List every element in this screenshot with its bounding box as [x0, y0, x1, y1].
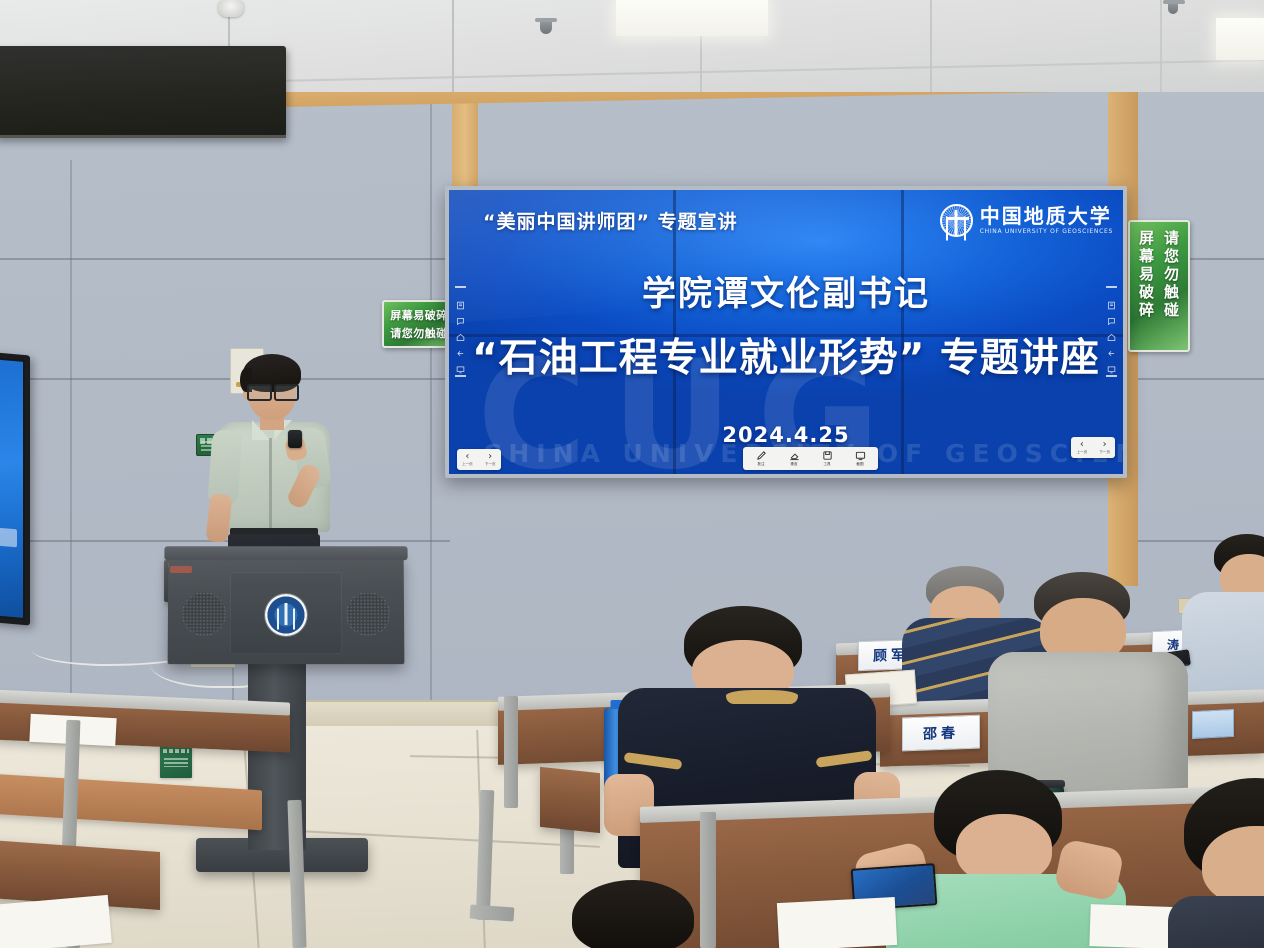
note-icon[interactable] [1107, 295, 1116, 304]
page-nav-left[interactable]: ‹ 上一页 › 下一页 [457, 449, 501, 470]
rail-bar [455, 286, 466, 288]
chair-foot [470, 904, 515, 921]
next-page-label: 下一页 [485, 462, 496, 467]
polo-collar-trim [726, 690, 798, 704]
podium-side-strip [170, 566, 192, 573]
display-icon[interactable] [456, 359, 465, 368]
wall-seam [0, 258, 448, 260]
next-page-button[interactable]: › 下一页 [1099, 440, 1110, 455]
rail-bar [455, 375, 466, 377]
screenshot-icon[interactable]: 截图 [849, 450, 871, 467]
slide-title-line1: 学院谭文伦副书记 [449, 266, 1123, 315]
chevron-right-icon: › [488, 452, 492, 462]
comment-icon[interactable] [456, 311, 465, 320]
chevron-right-icon: › [1103, 440, 1107, 450]
slide-title-line2: “石油工程专业就业形势” 专题讲座 [449, 327, 1123, 383]
warning-col-1: 请您勿触碰 [1161, 230, 1182, 320]
screen-side-rail-left[interactable] [455, 286, 466, 377]
prev-page-button[interactable]: ‹ 上一页 [1076, 440, 1087, 455]
ceiling-light [1216, 18, 1264, 60]
aisle-sign-line [163, 749, 189, 753]
rail-bar [1106, 375, 1117, 377]
warning-line-1: 屏幕易破碎 [390, 307, 448, 323]
eraser-label: 橡皮 [790, 462, 797, 467]
chevron-left-icon: ‹ [1080, 440, 1084, 450]
back-icon[interactable] [1107, 343, 1116, 352]
pen-icon[interactable]: 批注 [750, 450, 772, 467]
glasses-icon [247, 384, 299, 397]
save-icon[interactable]: 工具 [816, 450, 838, 467]
display-icon[interactable] [1107, 359, 1116, 368]
university-crest-icon [265, 594, 307, 636]
prev-page-label: 上一页 [462, 462, 473, 467]
smoke-detector-icon [218, 0, 244, 17]
prev-page-label: 上一页 [1076, 450, 1087, 455]
page-nav-right[interactable]: ‹ 上一页 › 下一页 [1071, 437, 1115, 458]
projector-screen-case [0, 46, 286, 138]
ceiling-light [616, 0, 768, 36]
warning-line-2: 请您勿触碰 [390, 325, 448, 341]
prev-page-button[interactable]: ‹ 上一页 [462, 452, 473, 467]
back-icon[interactable] [456, 343, 465, 352]
cug-logo-en: CHINA UNIVERSITY OF GEOSCIENCES [980, 229, 1113, 235]
lecture-hall-photo: 屏幕易破碎 请您勿触碰 请您勿触碰 屏幕易破碎 CUG CHINA UNIVER… [0, 0, 1264, 948]
slide-kicker: “美丽中国讲师团” 专题宣讲 [483, 207, 738, 234]
video-wall-display[interactable]: CUG CHINA UNIVERSITY OF GEOSCIENCES “美丽中… [445, 186, 1127, 478]
eraser-icon[interactable]: 橡皮 [783, 450, 805, 467]
note-icon[interactable] [456, 295, 465, 304]
podium-speaker-grille [346, 592, 390, 636]
aisle-sign-line [164, 758, 188, 767]
next-page-label: 下一页 [1099, 450, 1110, 455]
screenshot-label: 截图 [856, 462, 863, 467]
name-placard: 邵春 [902, 715, 980, 752]
warning-sign-right: 请您勿触碰 屏幕易破碎 [1128, 220, 1190, 352]
desk-frame [504, 696, 518, 808]
rail-bar [1106, 286, 1117, 288]
chevron-left-icon: ‹ [465, 452, 469, 462]
desk-side-panel [540, 767, 600, 833]
podium-top [164, 546, 407, 560]
ceiling-hook [1168, 0, 1178, 14]
wall-seam [70, 160, 72, 760]
cug-logo: 中国地质大学 CHINA UNIVERSITY OF GEOSCIENCES [940, 204, 1113, 237]
side-monitor-screen [0, 360, 23, 618]
placard-name: 邵春 [923, 722, 959, 743]
audience-person [552, 880, 712, 948]
warning-col-2: 屏幕易破碎 [1136, 230, 1157, 320]
cug-emblem-icon [940, 204, 973, 237]
pen-label: 批注 [757, 462, 764, 467]
podium-speaker-grille [182, 592, 226, 636]
ceiling-hook [540, 18, 552, 34]
wall-seam [430, 95, 432, 755]
cug-logo-cn: 中国地质大学 [980, 206, 1113, 226]
paper-sheet [0, 895, 112, 948]
slide-date: 2024.4.25 [449, 423, 1123, 447]
person-hair [572, 880, 694, 948]
screen-side-rail-right[interactable] [1106, 286, 1117, 377]
comment-icon[interactable] [1107, 311, 1116, 320]
home-icon[interactable] [456, 327, 465, 336]
annotation-toolbar[interactable]: 批注 橡皮 工具 截图 [743, 447, 878, 470]
home-icon[interactable] [1107, 327, 1116, 336]
aisle-warning-sign [160, 744, 192, 778]
person-torso [1168, 896, 1264, 948]
next-page-button[interactable]: › 下一页 [485, 452, 496, 467]
podium [168, 554, 405, 664]
side-monitor[interactable] [0, 352, 30, 625]
paper-sheet [777, 897, 897, 948]
speaker-shirt-placket [269, 438, 272, 530]
save-label: 工具 [823, 462, 830, 467]
audience-person [1168, 778, 1264, 948]
microphone-icon [288, 430, 302, 448]
